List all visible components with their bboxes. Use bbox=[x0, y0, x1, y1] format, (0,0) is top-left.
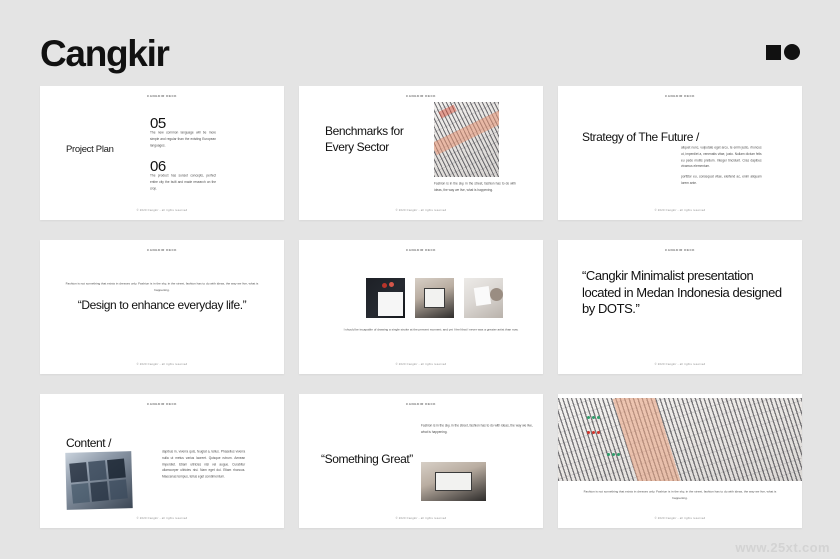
slide-title: Benchmarks for Every Sector bbox=[325, 124, 420, 155]
slide-footer: © 2020 Cangkir - all rights reserved bbox=[40, 210, 284, 212]
slide-thumbnail-something-great[interactable]: CANGKIR DECK Fashion is in the sky, in t… bbox=[299, 394, 543, 528]
watermark: www.25xt.com bbox=[735, 540, 830, 555]
block-text: The product has sunset concepts, perfect… bbox=[150, 174, 216, 193]
circle-icon bbox=[784, 44, 800, 60]
slide-eyebrow: CANGKIR DECK bbox=[299, 403, 543, 407]
financial-newspaper-wide-photo bbox=[558, 398, 802, 481]
slide-lead-text: Fashion is in the sky, in the street, fa… bbox=[421, 424, 533, 436]
slide-eyebrow: CANGKIR DECK bbox=[40, 403, 284, 407]
slide-footer: © 2020 Cangkir - all rights reserved bbox=[299, 210, 543, 212]
financial-newspaper-photo bbox=[434, 102, 499, 177]
slide-thumbnail-benchmarks[interactable]: CANGKIR DECK Benchmarks for Every Sector… bbox=[299, 86, 543, 220]
people-reading-photo bbox=[464, 278, 503, 318]
slide-eyebrow: CANGKIR DECK bbox=[40, 249, 284, 253]
square-icon bbox=[766, 45, 781, 60]
numbered-block: 05 The new common language will be more … bbox=[150, 116, 216, 145]
slide-thumbnail-project-plan[interactable]: CANGKIR DECK Project Plan 05 The new com… bbox=[40, 86, 284, 220]
slide-footer: © 2020 Cangkir - all rights reserved bbox=[558, 210, 802, 212]
slide-footer: © 2020 Cangkir - all rights reserved bbox=[40, 364, 284, 366]
slide-footer: © 2020 Cangkir - all rights reserved bbox=[299, 518, 543, 520]
slide-footer: © 2020 Cangkir - all rights reserved bbox=[558, 518, 802, 520]
slide-thumbnail-design-quote[interactable]: CANGKIR DECK Fashion is not something th… bbox=[40, 240, 284, 374]
photo-row bbox=[366, 278, 503, 318]
slide-eyebrow: CANGKIR DECK bbox=[299, 95, 543, 99]
numbered-blocks: 05 The new common language will be more … bbox=[150, 116, 216, 196]
body-paragraph-1: aliquet nunc, vulputate eget arcu, te en… bbox=[681, 146, 762, 171]
slide-body: aliquet nunc, vulputate eget arcu, te en… bbox=[681, 146, 743, 185]
slide-footer: © 2020 Cangkir - all rights reserved bbox=[558, 364, 802, 366]
slide-quote: “Design to enhance everyday life.” bbox=[52, 298, 272, 314]
slide-caption: Fashion is not something that exists in … bbox=[579, 490, 782, 503]
slide-title: Content / bbox=[66, 436, 111, 452]
slide-thumbnail-content[interactable]: CANGKIR DECK Content / dapibus in, viver… bbox=[40, 394, 284, 528]
slide-title: “Something Great” bbox=[321, 452, 416, 468]
page-header: Cangkir bbox=[40, 28, 800, 80]
block-text: The new common language will be more sim… bbox=[150, 131, 216, 150]
slide-caption: Fashion is in the sky, in the street, fa… bbox=[434, 182, 516, 194]
brand-logo-mark bbox=[766, 44, 800, 60]
slide-footer: © 2020 Cangkir - all rights reserved bbox=[299, 364, 543, 366]
body-paragraph-2: porttitor eu, consequat vitae, eleifend … bbox=[681, 175, 762, 187]
trading-chart-photo bbox=[366, 278, 405, 318]
page-title: Cangkir bbox=[40, 28, 800, 80]
slide-footer: © 2020 Cangkir - all rights reserved bbox=[40, 518, 284, 520]
slide-title: Project Plan bbox=[66, 144, 114, 156]
slide-title: Strategy of The Future / bbox=[582, 130, 702, 146]
slide-thumbnail-cangkir-quote[interactable]: CANGKIR DECK “Cangkir Minimalist present… bbox=[558, 240, 802, 374]
laptop-desk-photo bbox=[415, 278, 454, 318]
slide-eyebrow: CANGKIR DECK bbox=[40, 95, 284, 99]
block-number: 06 bbox=[150, 159, 216, 174]
slide-thumbnail-big-image[interactable]: Fashion is not something that exists in … bbox=[558, 394, 802, 528]
slide-body: dapibus in, viverra quis, feugiat a, tel… bbox=[162, 450, 245, 481]
numbered-block: 06 The product has sunset concepts, perf… bbox=[150, 159, 216, 188]
slide-eyebrow: CANGKIR DECK bbox=[558, 95, 802, 99]
slide-lead-text: Fashion is not something that exists in … bbox=[63, 282, 261, 295]
block-number: 05 bbox=[150, 116, 216, 131]
magazine-grid-photo bbox=[65, 451, 132, 510]
laptop-hands-photo bbox=[421, 462, 486, 501]
slide-thumbnail-strategy[interactable]: CANGKIR DECK Strategy of The Future / al… bbox=[558, 86, 802, 220]
slide-thumbnail-three-photos[interactable]: CANGKIR DECK I should be incapable of dr… bbox=[299, 240, 543, 374]
slide-grid: CANGKIR DECK Project Plan 05 The new com… bbox=[40, 86, 802, 528]
slide-eyebrow: CANGKIR DECK bbox=[299, 249, 543, 253]
slide-quote: “Cangkir Minimalist presentation located… bbox=[582, 268, 782, 318]
slide-caption: I should be incapable of drawing a singl… bbox=[337, 328, 524, 334]
slide-eyebrow: CANGKIR DECK bbox=[558, 249, 802, 253]
